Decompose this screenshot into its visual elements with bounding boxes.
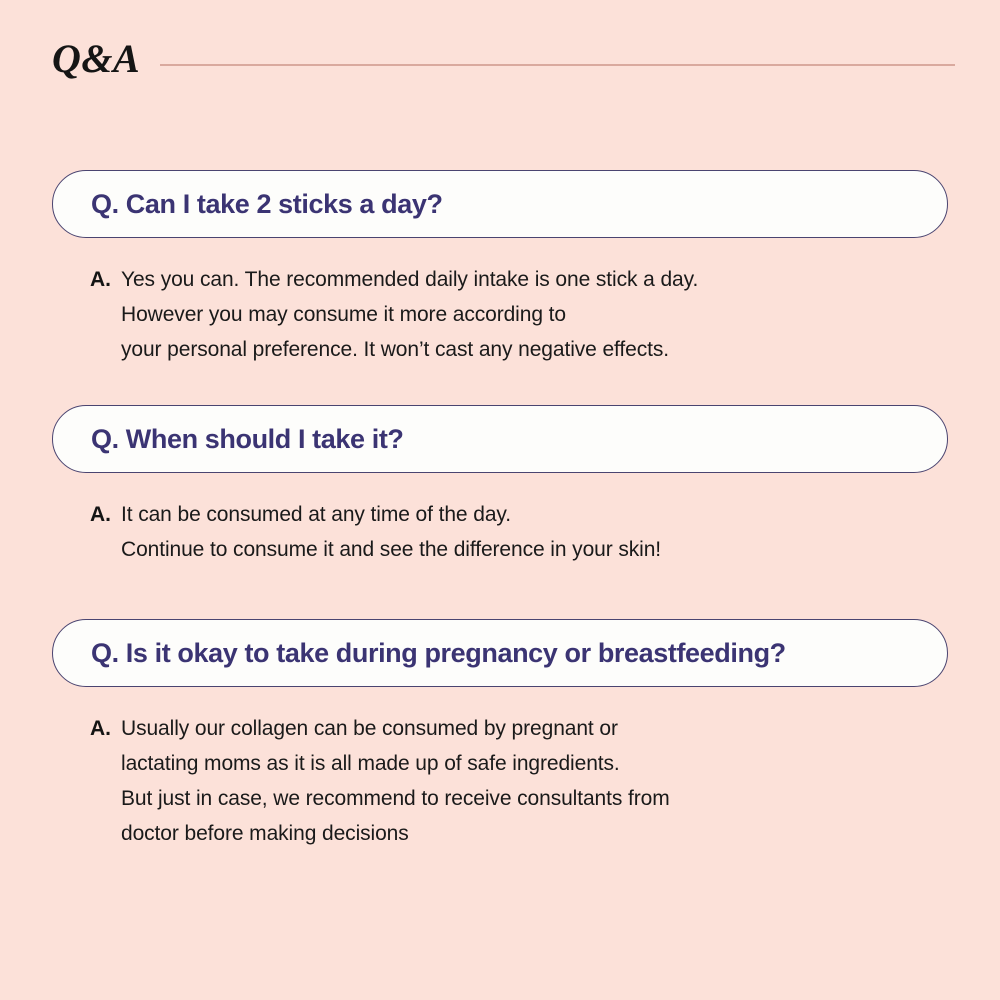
answer-lines: Yes you can. The recommended daily intak… [121,262,948,367]
answer-line: It can be consumed at any time of the da… [121,497,948,532]
answer-line: lactating moms as it is all made up of s… [121,746,948,781]
answer-line: Yes you can. The recommended daily intak… [121,262,948,297]
question-box[interactable]: Q. Can I take 2 sticks a day? [52,170,948,238]
answer-line: doctor before making decisions [121,816,948,851]
question-box[interactable]: Q. Is it okay to take during pregnancy o… [52,619,948,687]
header-divider [160,64,955,66]
answer-line: However you may consume it more accordin… [121,297,948,332]
qa-item: Q. Is it okay to take during pregnancy o… [52,619,948,851]
qa-page: Q&A Q. Can I take 2 sticks a day? A. Yes… [0,0,1000,1000]
answer-line: But just in case, we recommend to receiv… [121,781,948,816]
question-text: Q. Can I take 2 sticks a day? [91,188,443,220]
question-text: Q. When should I take it? [91,423,404,455]
qa-item: Q. Can I take 2 sticks a day? A. Yes you… [52,170,948,367]
answer-block: A. Usually our collagen can be consumed … [52,711,948,851]
question-box[interactable]: Q. When should I take it? [52,405,948,473]
answer-label: A. [90,711,111,746]
answer-label: A. [90,497,111,532]
answer-block: A. Yes you can. The recommended daily in… [52,262,948,367]
answer-block: A. It can be consumed at any time of the… [52,497,948,567]
answer-label: A. [90,262,111,297]
page-header: Q&A [52,34,955,86]
qa-list: Q. Can I take 2 sticks a day? A. Yes you… [52,170,948,851]
question-text: Q. Is it okay to take during pregnancy o… [91,637,786,669]
answer-line: Continue to consume it and see the diffe… [121,532,948,567]
answer-line: Usually our collagen can be consumed by … [121,711,948,746]
answer-lines: Usually our collagen can be consumed by … [121,711,948,851]
answer-lines: It can be consumed at any time of the da… [121,497,948,567]
qa-item: Q. When should I take it? A. It can be c… [52,405,948,567]
answer-line: your personal preference. It won’t cast … [121,332,948,367]
page-title: Q&A [52,39,140,81]
